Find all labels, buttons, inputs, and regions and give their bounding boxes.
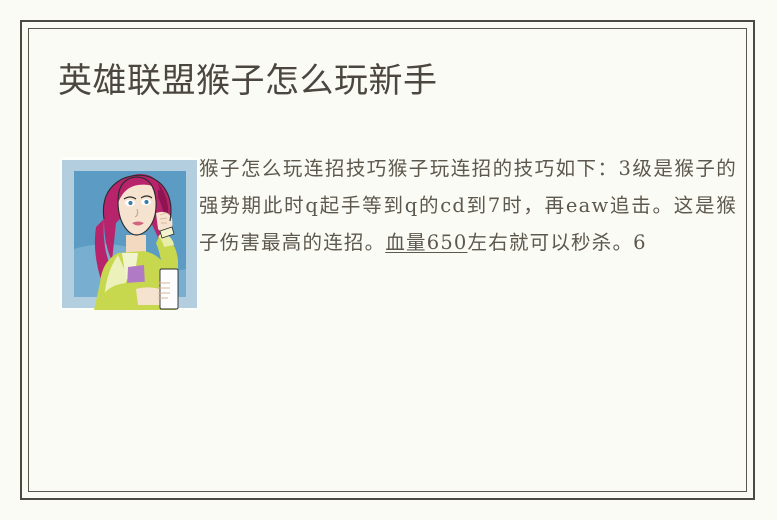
- page-title: 英雄联盟猴子怎么玩新手: [58, 59, 438, 103]
- woman-with-glass-illustration: [60, 157, 199, 310]
- article-illustration: [60, 157, 199, 310]
- article-text-part-2: 左右就可以秒杀。6: [468, 231, 647, 254]
- article-body: 猴子怎么玩连招技巧猴子玩连招的技巧如下：3级是猴子的强势期此时q起手等到q的cd…: [38, 150, 737, 314]
- article: 英雄联盟猴子怎么玩新手: [22, 22, 753, 498]
- article-text-highlight: 血量650: [385, 231, 467, 254]
- page-frame: 英雄联盟猴子怎么玩新手: [20, 20, 755, 500]
